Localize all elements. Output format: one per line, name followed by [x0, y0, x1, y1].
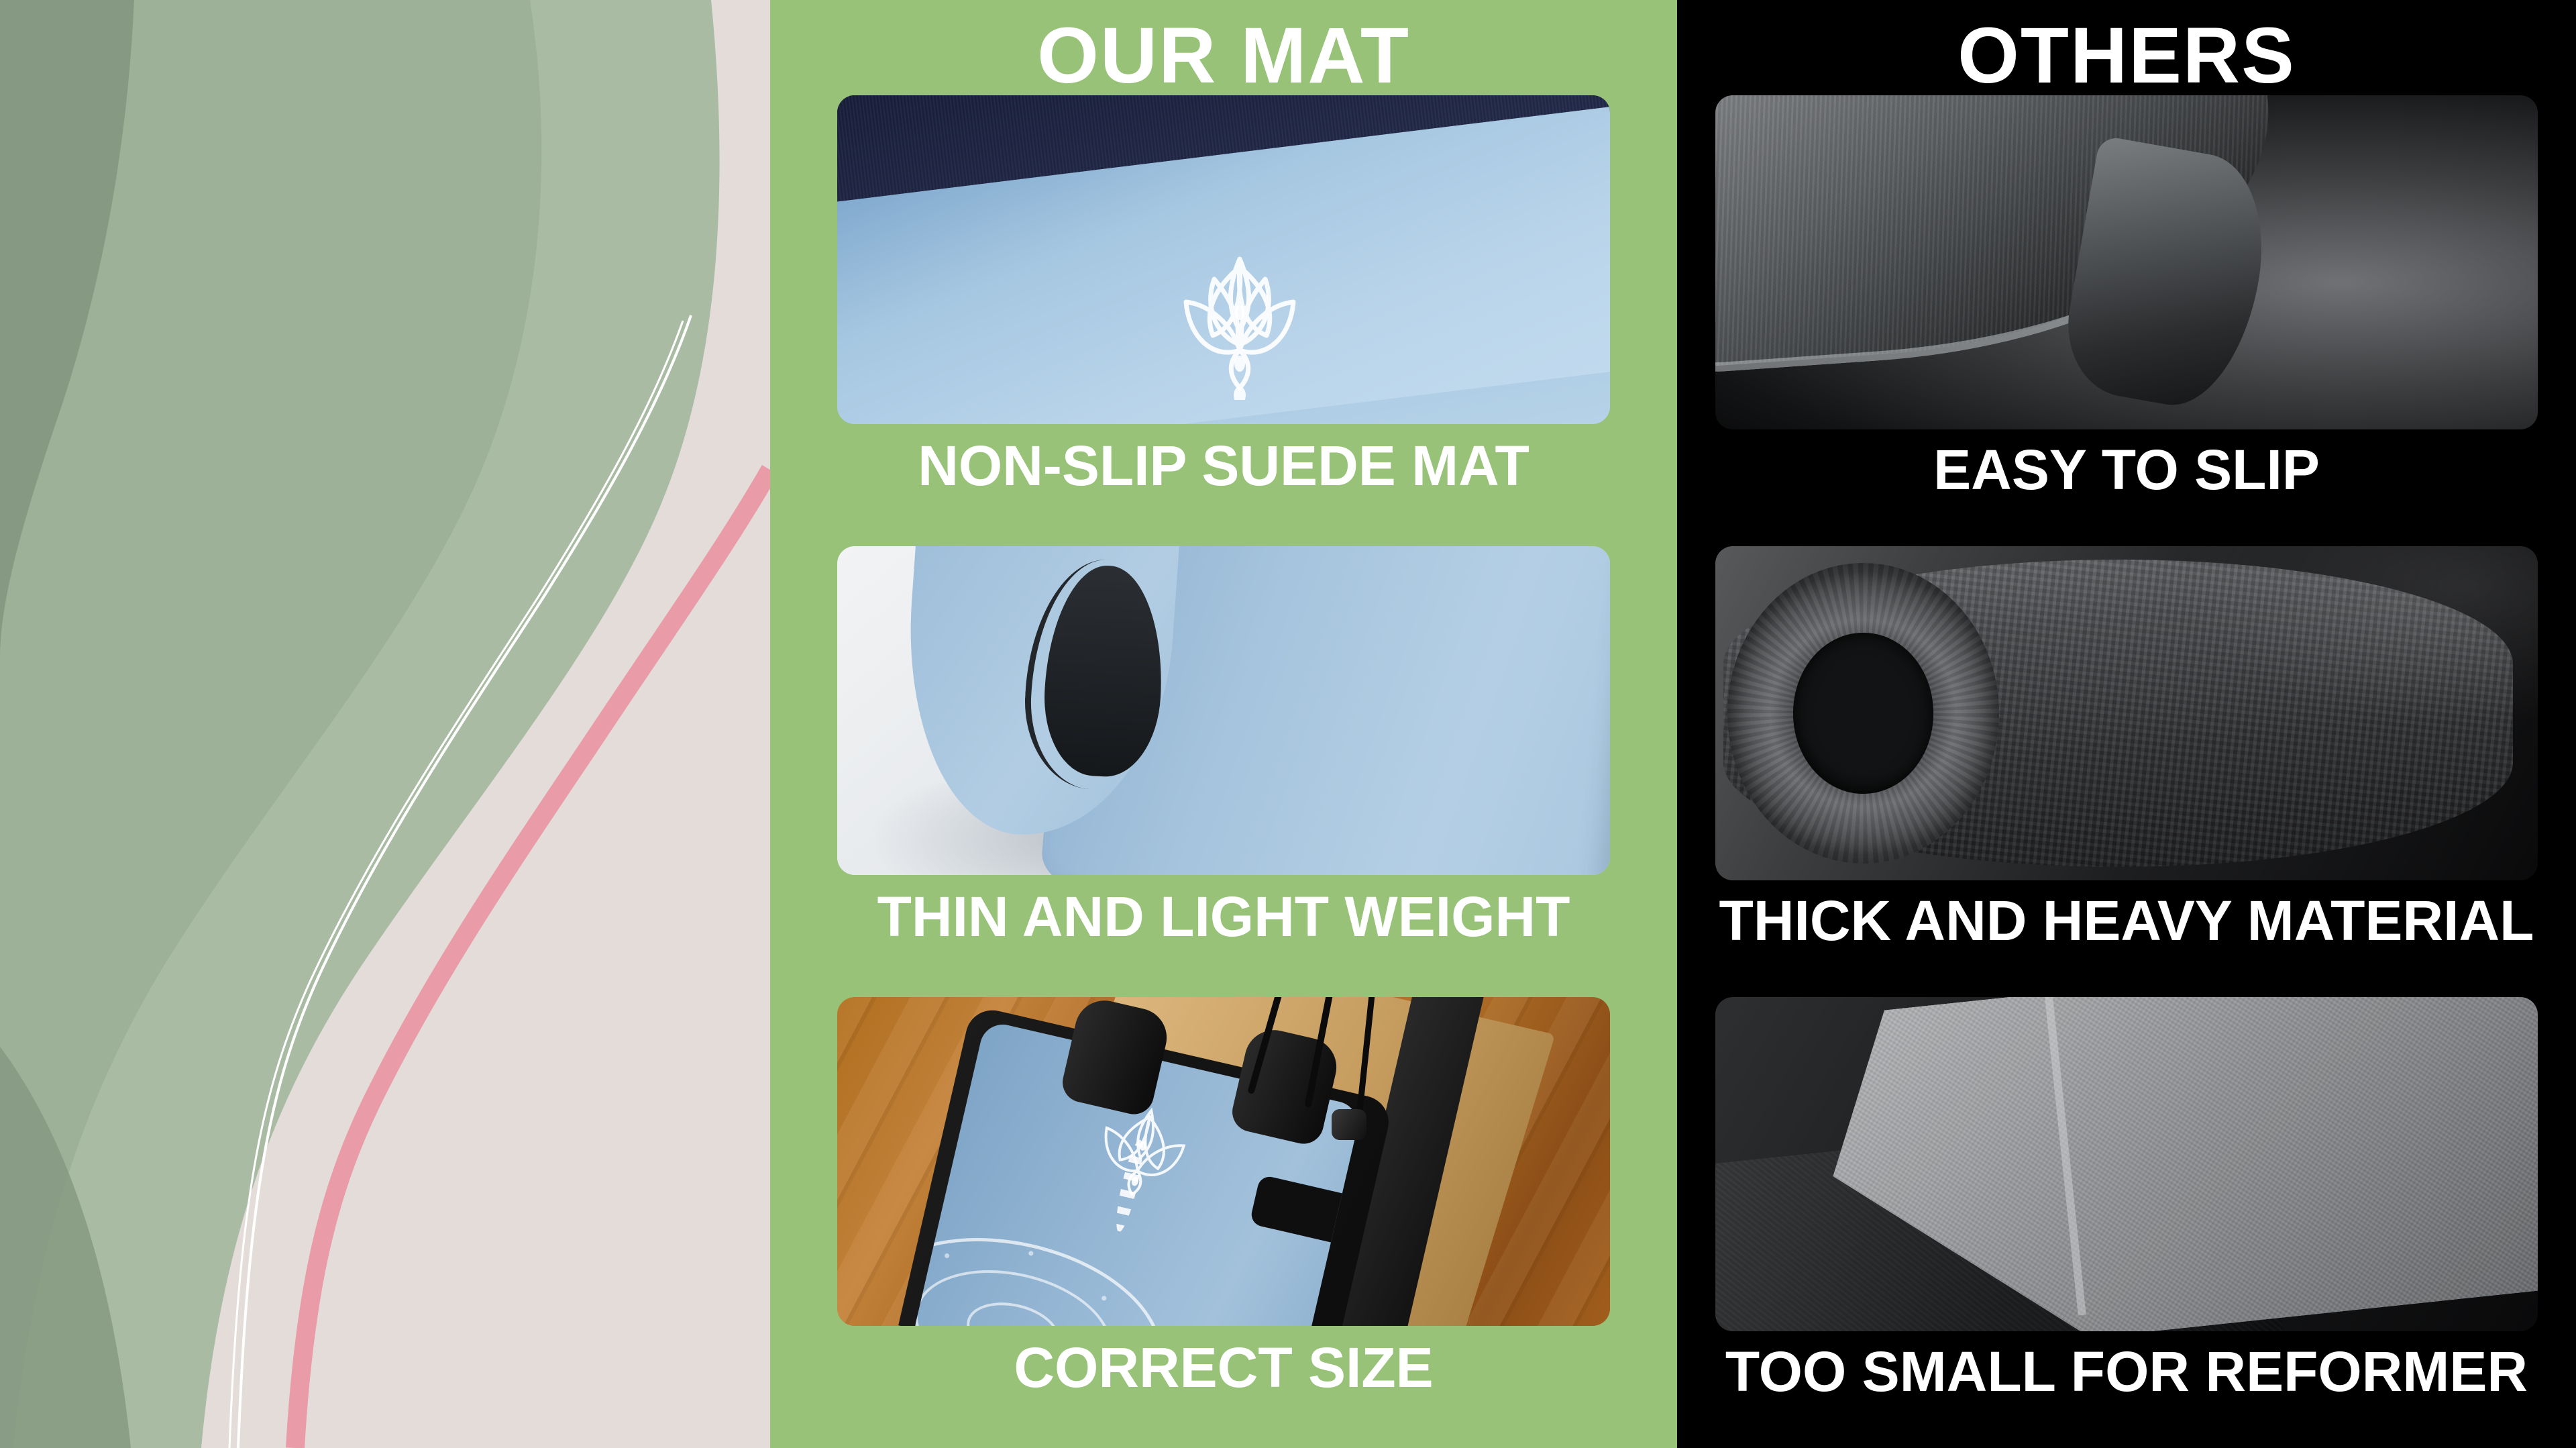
image-gray-towel-draped-over-black-leather-bench — [1715, 997, 2538, 1331]
lotus-flower-icon — [1139, 232, 1340, 400]
column-title-our-mat: OUR MAT — [1037, 16, 1410, 95]
decorative-side-panel — [0, 0, 770, 1448]
column-others: OTHERS EASY TO SLIP THICK AN — [1677, 0, 2576, 1448]
rolled-mat-center-hole — [1793, 633, 1933, 793]
caption-easy-to-slip: EASY TO SLIP — [1933, 442, 2320, 498]
image-navy-and-light-blue-suede-mat-with-lotus-logo — [837, 95, 1610, 424]
mandala-petal-dots — [915, 1214, 1165, 1326]
image-dark-gray-fabric-corner-curling-up — [1715, 95, 2538, 429]
ours-column-bottom-strip — [770, 1441, 1677, 1448]
image-thick-rolled-dark-gray-yoga-mat — [1715, 546, 2538, 880]
decorative-curves-graphic — [0, 0, 770, 1448]
caption-correct-size: CORRECT SIZE — [1014, 1339, 1433, 1396]
card-thin-and-light-weight[interactable]: THIN AND LIGHT WEIGHT — [770, 546, 1677, 997]
studio-light-glow — [2176, 546, 2538, 727]
card-non-slip-suede-mat[interactable]: NON-SLIP SUEDE MAT — [770, 95, 1677, 546]
reformer-strap-hook — [1332, 1109, 1366, 1140]
others-card-list: EASY TO SLIP THICK AND HEAVY MATERIAL — [1677, 95, 2576, 1448]
image-blue-mat-fitted-on-pilates-reformer-wood-floor — [837, 997, 1610, 1326]
card-thick-and-heavy-material[interactable]: THICK AND HEAVY MATERIAL — [1677, 546, 2576, 997]
image-light-blue-suede-mat-curling-thin-profile — [837, 546, 1610, 875]
caption-too-small-for-reformer: TOO SMALL FOR REFORMER — [1725, 1343, 2528, 1400]
our-mat-card-list: NON-SLIP SUEDE MAT THIN AND LIGHT WEIGHT — [770, 95, 1677, 1448]
caption-thick-and-heavy-material: THICK AND HEAVY MATERIAL — [1719, 892, 2534, 949]
card-too-small-for-reformer[interactable]: TOO SMALL FOR REFORMER — [1677, 997, 2576, 1448]
caption-thin-and-light-weight: THIN AND LIGHT WEIGHT — [877, 888, 1570, 945]
towel-hem-seam — [1756, 997, 2086, 1331]
mat-shoulder-notch — [1250, 1174, 1344, 1243]
card-easy-to-slip[interactable]: EASY TO SLIP — [1677, 95, 2576, 546]
caption-non-slip-suede-mat: NON-SLIP SUEDE MAT — [918, 437, 1529, 494]
card-correct-size[interactable]: CORRECT SIZE — [770, 997, 1677, 1448]
column-our-mat: OUR MAT — [770, 0, 1677, 1448]
infographic-canvas: OUR MAT — [0, 0, 2576, 1448]
column-title-others: OTHERS — [1957, 16, 2296, 95]
